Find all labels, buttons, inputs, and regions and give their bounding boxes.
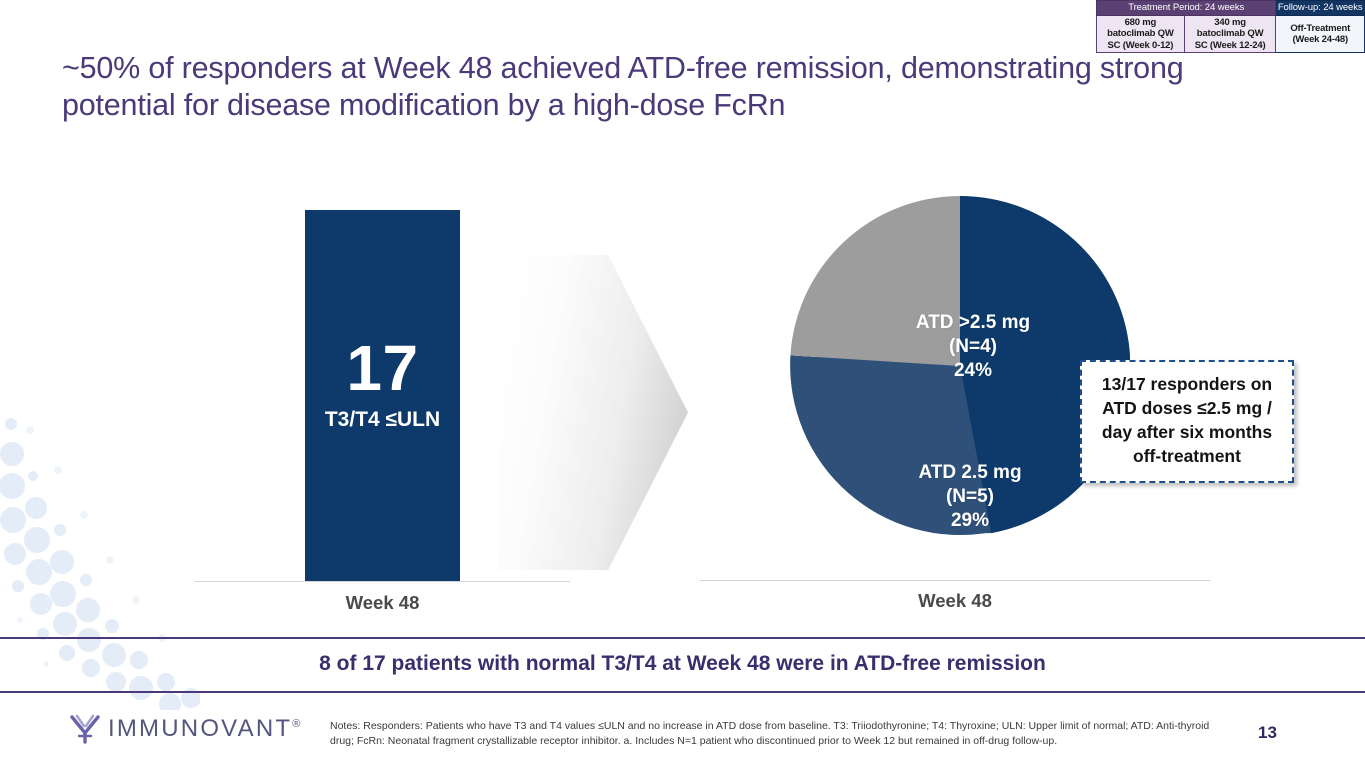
- company-logo: IMMUNOVANT®: [68, 712, 300, 746]
- schedule-cell-off-treatment: Off-Treatment(Week 24-48): [1276, 16, 1365, 53]
- logo-wordmark-text: IMMUNOVANT: [108, 715, 292, 742]
- pie-label-atd-2-5mg: ATD 2.5 mg(N=5)29%: [880, 461, 1060, 533]
- schedule-header-treatment: Treatment Period: 24 weeks: [1097, 1, 1276, 16]
- bar-chart-axis-line: [195, 581, 570, 582]
- banner-divider-bottom: [0, 691, 1365, 693]
- page-number: 13: [1258, 723, 1277, 743]
- bar-chart-axis-label: Week 48: [195, 592, 570, 614]
- bar-chart-value: 17: [305, 336, 460, 400]
- pie-label-atd-gt-2-5mg: ATD >2.5 mg(N=4)24%: [878, 311, 1068, 383]
- study-schedule-table: Treatment Period: 24 weeks Follow-up: 24…: [1096, 0, 1365, 53]
- schedule-cell-340mg: 340 mgbatoclimab QWSC (Week 12-24): [1184, 16, 1276, 53]
- summary-banner-text: 8 of 17 patients with normal T3/T4 at We…: [0, 652, 1365, 676]
- transition-arrow-icon: [498, 255, 688, 570]
- schedule-cell-680mg: 680 mgbatoclimab QWSC (Week 0-12): [1097, 16, 1185, 53]
- pie-chart-graphic: ATD-Free(N=8)a47% ATD 2.5 mg(N=5)29% ATD…: [790, 196, 1130, 536]
- antibody-logo-icon: [68, 713, 102, 745]
- logo-registered-mark: ®: [292, 718, 300, 730]
- page-title: ~50% of responders at Week 48 achieved A…: [62, 50, 1272, 124]
- bar-chart-bar: 17 T3/T4 ≤ULN: [305, 210, 460, 581]
- schedule-body-row: 680 mgbatoclimab QWSC (Week 0-12) 340 mg…: [1097, 16, 1365, 53]
- pie-chart-axis-line: [700, 580, 1210, 581]
- callout-box: 13/17 responders on ATD doses ≤2.5 mg / …: [1080, 360, 1294, 483]
- banner-divider-top: [0, 637, 1365, 639]
- logo-wordmark: IMMUNOVANT®: [108, 715, 300, 743]
- slide-body: 17 T3/T4 ≤ULN Week 48 ATD-Free(N=8)a47%: [0, 160, 1365, 635]
- schedule-header-row: Treatment Period: 24 weeks Follow-up: 24…: [1097, 1, 1365, 16]
- footer-notes: Notes: Responders: Patients who have T3 …: [330, 719, 1235, 749]
- schedule-header-followup: Follow-up: 24 weeks: [1276, 1, 1365, 16]
- pie-chart-axis-label: Week 48: [700, 590, 1210, 612]
- bar-chart-sublabel: T3/T4 ≤ULN: [305, 408, 460, 432]
